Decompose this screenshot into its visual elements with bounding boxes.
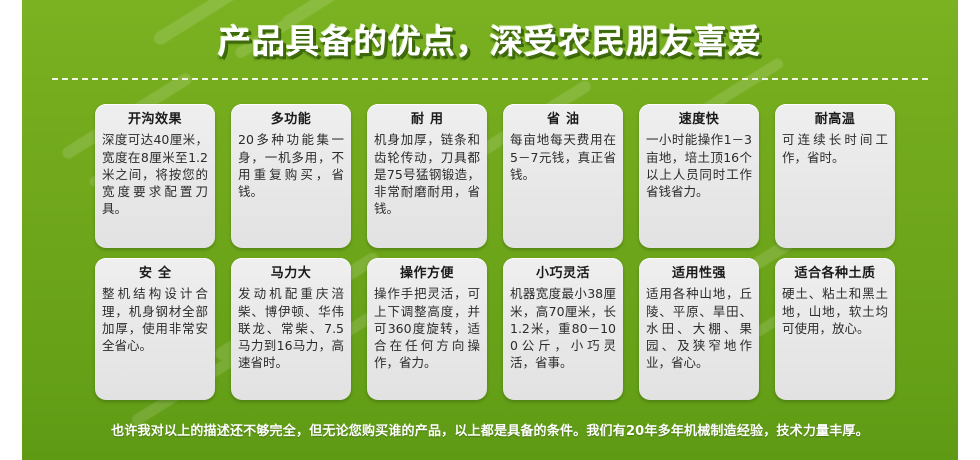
feature-card-title: 耐高温	[782, 112, 888, 128]
feature-card-body: 操作手把灵活，可上下调整高度，并可360度旋转，适合在任何方向操作，省力。	[374, 285, 480, 371]
feature-card: 安全 整机结构设计合理，机身钢材全部加厚，使用非常安全省心。	[95, 258, 215, 400]
footer-container: 也许我对以上的描述还不够完全，但无论您购买谁的产品，以上都是具备的条件。我们有2…	[22, 420, 958, 439]
feature-card-body: 适用各种山地，丘陵、平原、旱田、水田、大棚、果园、及狭窄地作业，省心。	[646, 285, 752, 371]
feature-card-title: 操作方便	[374, 266, 480, 282]
feature-card: 适用性强 适用各种山地，丘陵、平原、旱田、水田、大棚、果园、及狭窄地作业，省心。	[639, 258, 759, 400]
feature-card-body: 一小时能操作1－3亩地，培土顶16个以上人员同时工作省钱省力。	[646, 131, 752, 200]
feature-card-title: 省油	[510, 112, 616, 128]
promo-poster: 产品具备的优点，深受农民朋友喜爱 开沟效果 深度可达40厘米，宽度在8厘米至1.…	[0, 0, 980, 460]
feature-card-title: 小巧灵活	[510, 266, 616, 282]
page-title: 产品具备的优点，深受农民朋友喜爱	[218, 24, 762, 60]
feature-card: 速度快 一小时能操作1－3亩地，培土顶16个以上人员同时工作省钱省力。	[639, 104, 759, 248]
title-divider	[52, 78, 928, 80]
feature-card-title: 速度快	[646, 112, 752, 128]
footer-statement: 也许我对以上的描述还不够完全，但无论您购买谁的产品，以上都是具备的条件。我们有2…	[111, 420, 869, 439]
feature-card: 小巧灵活 机器宽度最小38厘米，高70厘米，长1.2米，重80－100公斤，小巧…	[503, 258, 623, 400]
feature-card: 马力大 发动机配重庆涪柴、博伊顿、华伟联龙、常柴、7.5马力到16马力，高速省时…	[231, 258, 351, 400]
feature-card-title: 安全	[102, 266, 208, 282]
feature-card-body: 整机结构设计合理，机身钢材全部加厚，使用非常安全省心。	[102, 285, 208, 354]
feature-card: 开沟效果 深度可达40厘米，宽度在8厘米至1.2米之间，将按您的宽度要求配置刀具…	[95, 104, 215, 248]
feature-card-title: 马力大	[238, 266, 344, 282]
feature-card-body: 硬土、粘土和黑土地，山地，软土均可使用，放心。	[782, 285, 888, 337]
feature-card: 耐用 机身加厚，链条和齿轮传动，刀具都是75号猛钢锻造，非常耐磨耐用，省钱。	[367, 104, 487, 248]
feature-card-body: 可连续长时间工作，省时。	[782, 131, 888, 166]
feature-card-body: 机器宽度最小38厘米，高70厘米，长1.2米，重80－100公斤，小巧灵活，省事…	[510, 285, 616, 371]
feature-row-2: 安全 整机结构设计合理，机身钢材全部加厚，使用非常安全省心。 马力大 发动机配重…	[95, 258, 895, 400]
feature-card: 适合各种土质 硬土、粘土和黑土地，山地，软土均可使用，放心。	[775, 258, 895, 400]
feature-card-title: 多功能	[238, 112, 344, 128]
feature-card-title: 耐用	[374, 112, 480, 128]
feature-card-body: 发动机配重庆涪柴、博伊顿、华伟联龙、常柴、7.5马力到16马力，高速省时。	[238, 285, 344, 371]
feature-card-title: 适用性强	[646, 266, 752, 282]
feature-card-title: 开沟效果	[102, 112, 208, 128]
feature-row-1: 开沟效果 深度可达40厘米，宽度在8厘米至1.2米之间，将按您的宽度要求配置刀具…	[95, 104, 895, 248]
poster-title-container: 产品具备的优点，深受农民朋友喜爱	[22, 24, 958, 60]
feature-card: 耐高温 可连续长时间工作，省时。	[775, 104, 895, 248]
feature-card-body: 20多种功能集一身，一机多用，不用重复购买，省钱。	[238, 131, 344, 200]
feature-card-body: 每亩地每天费用在5－7元钱，真正省钱。	[510, 131, 616, 183]
feature-card: 多功能 20多种功能集一身，一机多用，不用重复购买，省钱。	[231, 104, 351, 248]
feature-card: 省油 每亩地每天费用在5－7元钱，真正省钱。	[503, 104, 623, 248]
green-background-panel: 产品具备的优点，深受农民朋友喜爱 开沟效果 深度可达40厘米，宽度在8厘米至1.…	[22, 0, 958, 460]
feature-card-title: 适合各种土质	[782, 266, 888, 282]
feature-card-body: 机身加厚，链条和齿轮传动，刀具都是75号猛钢锻造，非常耐磨耐用，省钱。	[374, 131, 480, 217]
feature-card-body: 深度可达40厘米，宽度在8厘米至1.2米之间，将按您的宽度要求配置刀具。	[102, 131, 208, 217]
feature-card: 操作方便 操作手把灵活，可上下调整高度，并可360度旋转，适合在任何方向操作，省…	[367, 258, 487, 400]
